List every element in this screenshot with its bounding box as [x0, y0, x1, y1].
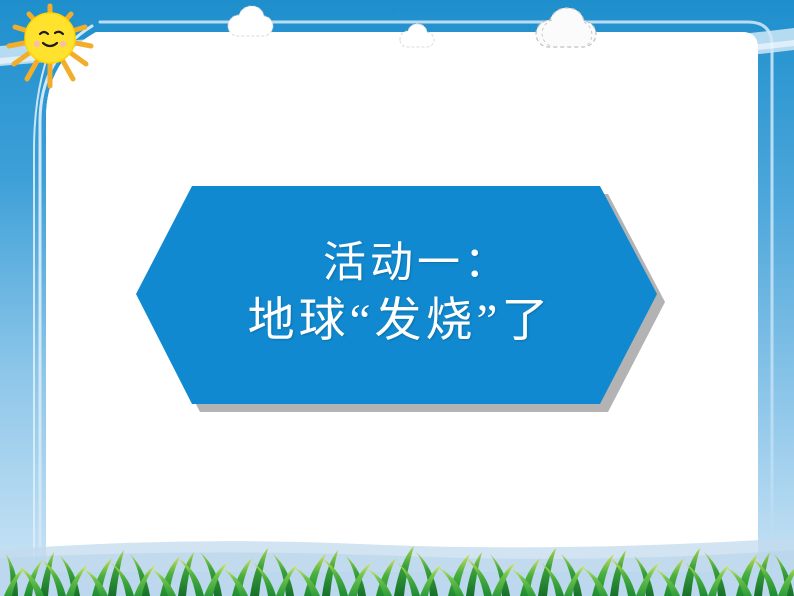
- activity-banner: 活动一： 地球“发烧”了: [128, 172, 668, 422]
- cloud-icon-left: [228, 6, 273, 36]
- sun-icon: [0, 0, 110, 100]
- grass-border: [0, 506, 794, 596]
- cloud-icon-right: [536, 8, 596, 47]
- slide-canvas: 活动一： 地球“发烧”了: [0, 0, 794, 596]
- clouds-group: [0, 0, 794, 70]
- cloud-icon-middle: [400, 24, 434, 47]
